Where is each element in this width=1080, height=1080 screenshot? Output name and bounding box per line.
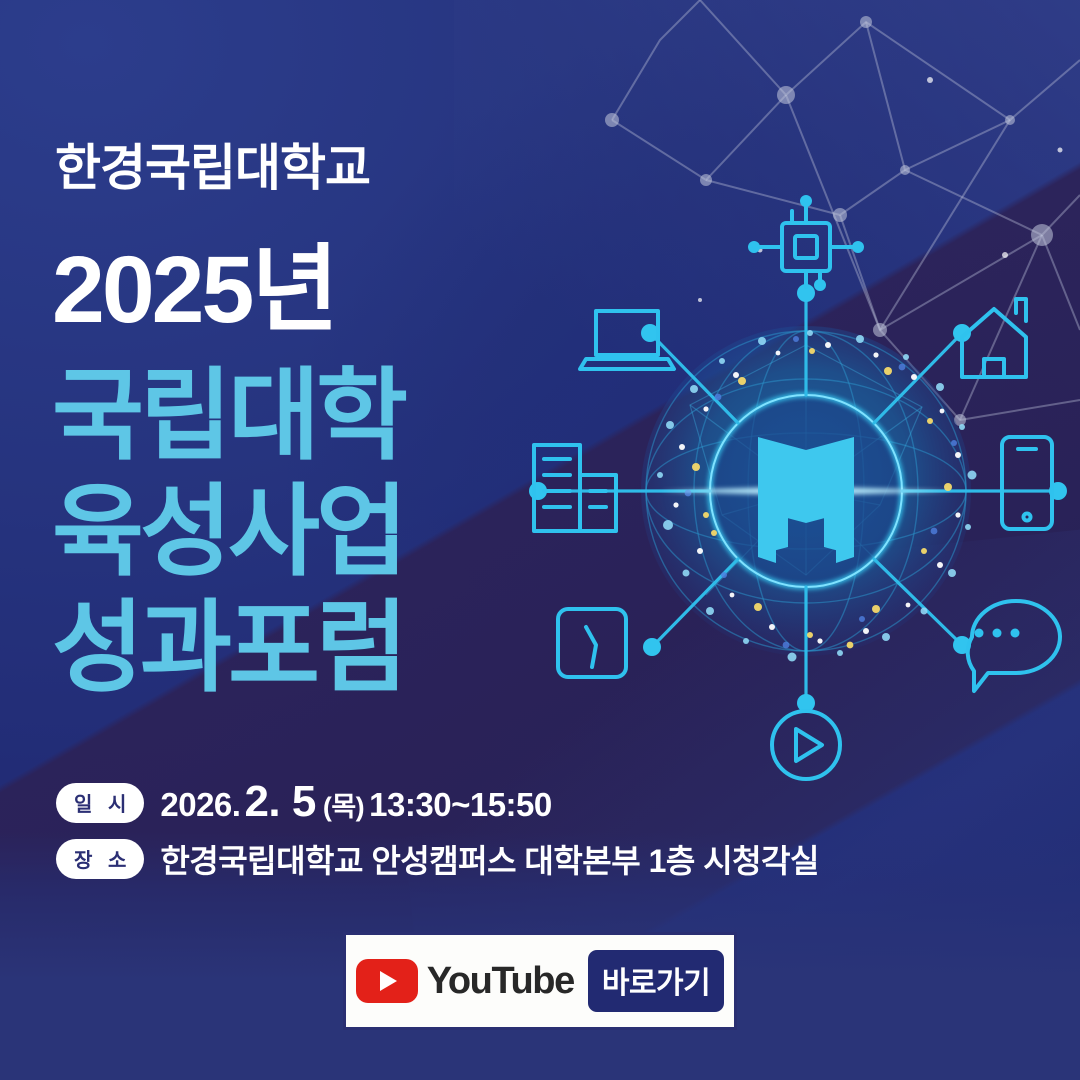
date-year: 2026. [160, 786, 240, 824]
youtube-wordmark: YouTube [427, 960, 574, 1003]
page-title: 국립대학 육성사업 성과포럼 [52, 358, 404, 706]
date-time: 13:30~15:50 [369, 786, 552, 824]
venue-label-pill: 장 소 [56, 839, 144, 879]
date-day: 2. 5 [240, 782, 319, 822]
venue-value: 한경국립대학교 안성캠퍼스 대학본부 1층 시청각실 [160, 836, 819, 882]
youtube-logo: YouTube [356, 959, 574, 1003]
event-year: 2025년 [52, 243, 336, 338]
university-name: 한경국립대학교 [55, 128, 370, 200]
title-line-3: 성과포럼 [52, 590, 404, 706]
youtube-play-icon [356, 959, 418, 1003]
event-details: 일 시 2026. 2. 5 (목) 13:30~15:50 장 소 한경국립대… [56, 782, 819, 894]
title-line-2: 육성사업 [52, 474, 404, 590]
title-line-1: 국립대학 [52, 358, 404, 474]
date-weekday: (목) [320, 785, 369, 824]
youtube-goto-badge[interactable]: 바로가기 [588, 950, 724, 1012]
date-label-pill: 일 시 [56, 783, 144, 823]
date-row: 일 시 2026. 2. 5 (목) 13:30~15:50 [56, 782, 819, 824]
venue-row: 장 소 한경국립대학교 안성캠퍼스 대학본부 1층 시청각실 [56, 836, 819, 882]
date-value: 2026. 2. 5 (목) 13:30~15:50 [160, 782, 551, 824]
youtube-link-button[interactable]: YouTube 바로가기 [343, 932, 737, 1030]
event-poster: 한경국립대학교 2025년 국립대학 육성사업 성과포럼 일 시 2026. 2… [0, 0, 1080, 1080]
